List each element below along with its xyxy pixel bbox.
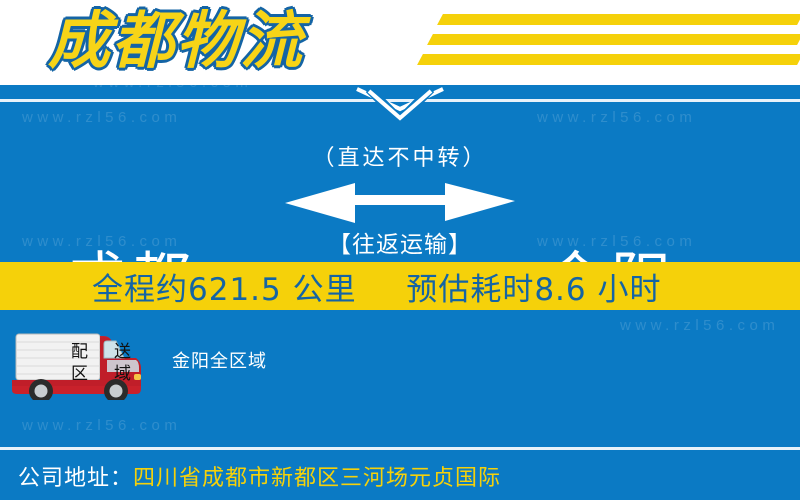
watermark: www.rzl56.com (22, 109, 181, 126)
company-address: 公司地址：四川省成都市新都区三河场元贞国际 (18, 460, 501, 492)
truck-char-4: 域 (114, 365, 131, 384)
watermark: www.rzl56.com (93, 85, 252, 91)
bidirectional-arrow-icon (285, 179, 515, 227)
truck-char-3: 区 (71, 365, 88, 384)
stripe-2 (427, 34, 800, 45)
duration-text: 预估耗时8.6 小时 (406, 272, 661, 308)
stats-text: 全程约621.5 公里 预估耗时8.6 小时 (92, 264, 661, 309)
stripe-1 (437, 14, 800, 25)
stripe-3 (417, 54, 800, 65)
stats-band: 全程约621.5 公里 预估耗时8.6 小时 (0, 262, 800, 310)
double-chevron-down-icon (355, 87, 445, 121)
watermark: www.rzl56.com (620, 317, 779, 334)
logistics-banner: 成都物流 www.rzl56.com www.rzl56.com www.rzl… (0, 0, 800, 500)
delivery-truck-icon: 配 送 区 域 (8, 328, 156, 400)
truck-box-text: 配 送 区 域 (58, 341, 144, 385)
banner-body: www.rzl56.com www.rzl56.com www.rzl56.co… (0, 85, 800, 500)
distance-text: 全程约621.5 公里 (92, 272, 357, 308)
truck-char-2: 送 (114, 343, 131, 362)
truck-char-1: 配 (71, 343, 88, 362)
coverage-area-label: 金阳全区域 (172, 347, 267, 373)
watermark: www.rzl56.com (22, 417, 181, 434)
decorative-stripes (420, 12, 800, 74)
address-value: 四川省成都市新都区三河场元贞国际 (133, 466, 501, 491)
watermark: www.rzl56.com (537, 109, 696, 126)
divider-line-bottom (0, 447, 800, 450)
page-title: 成都物流 (48, 4, 304, 78)
banner-header: 成都物流 (0, 0, 800, 85)
direct-route-note: （直达不中转） (270, 140, 530, 172)
address-label: 公司地址： (18, 466, 133, 491)
roundtrip-note: 【往返运输】 (270, 225, 530, 259)
